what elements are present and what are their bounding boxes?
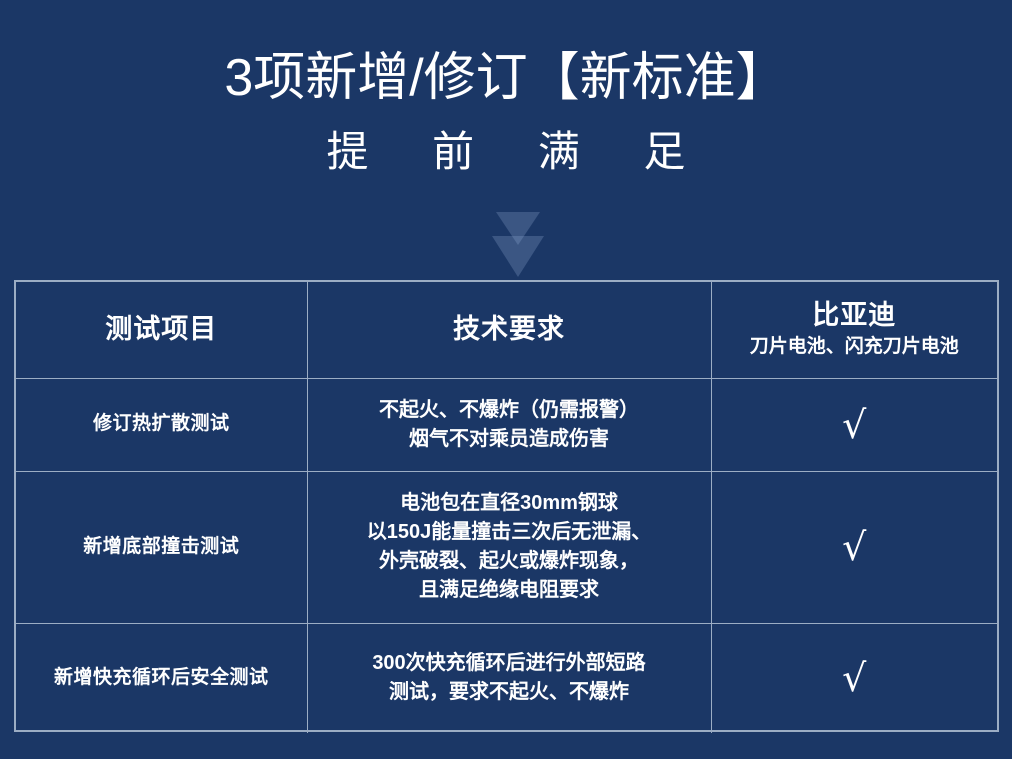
requirement-line: 外壳破裂、起火或爆炸现象， [316,547,703,576]
requirement-line: 300次快充循环后进行外部短路 [316,649,703,678]
requirement-text: 不起火、不爆炸（仍需报警） 烟气不对乘员造成伤害 [316,396,703,454]
test-item-label: 新增底部撞击测试 [24,534,299,561]
table-cell-test-item: 新增底部撞击测试 [16,471,307,623]
table-cell-requirement: 300次快充循环后进行外部短路 测试，要求不起火、不爆炸 [307,623,711,733]
requirement-line: 测试，要求不起火、不爆炸 [316,678,703,707]
table-cell-test-item: 修订热扩散测试 [16,378,307,471]
table-cell-requirement: 电池包在直径30mm钢球 以150J能量撞击三次后无泄漏、 外壳破裂、起火或爆炸… [307,471,711,623]
requirement-line: 不起火、不爆炸（仍需报警） [316,396,703,425]
check-mark-icon: √ [720,406,990,444]
table-cell-result: √ [711,471,997,623]
table-cell-test-item: 新增快充循环后安全测试 [16,623,307,733]
table-row: 修订热扩散测试 不起火、不爆炸（仍需报警） 烟气不对乘员造成伤害 √ [16,378,997,471]
down-arrow-icon [489,212,549,282]
requirement-line: 且满足绝缘电阻要求 [316,576,703,605]
check-mark-icon: √ [720,659,990,697]
down-arrow-triangle-bottom [492,236,544,277]
table-row: 新增快充循环后安全测试 300次快充循环后进行外部短路 测试，要求不起火、不爆炸… [16,623,997,733]
table-header-test-item-label: 测试项目 [24,313,299,347]
spec-table: 测试项目 技术要求 比亚迪 刀片电池、闪充刀片电池 修订热扩散测试 不起火、不爆… [16,282,997,733]
table-cell-requirement: 不起火、不爆炸（仍需报警） 烟气不对乘员造成伤害 [307,378,711,471]
table-row: 新增底部撞击测试 电池包在直径30mm钢球 以150J能量撞击三次后无泄漏、 外… [16,471,997,623]
table-header-row: 测试项目 技术要求 比亚迪 刀片电池、闪充刀片电池 [16,282,997,378]
requirement-line: 以150J能量撞击三次后无泄漏、 [316,518,703,547]
table-cell-result: √ [711,378,997,471]
requirement-text: 300次快充循环后进行外部短路 测试，要求不起火、不爆炸 [316,649,703,707]
page-subtitle: 提 前 满 足 [0,127,1012,177]
title-block: 3项新增/修订【新标准】 提 前 满 足 [0,0,1012,178]
requirement-line: 烟气不对乘员造成伤害 [316,425,703,454]
page-title: 3项新增/修订【新标准】 [0,48,1012,109]
table-header-test-item: 测试项目 [16,282,307,378]
table-header-brand-sublabel: 刀片电池、闪充刀片电池 [720,334,990,360]
check-mark-icon: √ [720,528,990,566]
table-cell-result: √ [711,623,997,733]
spec-table-container: 测试项目 技术要求 比亚迪 刀片电池、闪充刀片电池 修订热扩散测试 不起火、不爆… [14,280,999,732]
test-item-label: 修订热扩散测试 [24,411,299,438]
table-header-requirement-label: 技术要求 [316,313,703,347]
requirement-line: 电池包在直径30mm钢球 [316,489,703,518]
requirement-text: 电池包在直径30mm钢球 以150J能量撞击三次后无泄漏、 外壳破裂、起火或爆炸… [316,489,703,605]
table-header-requirement: 技术要求 [307,282,711,378]
test-item-label: 新增快充循环后安全测试 [24,665,299,692]
table-header-brand: 比亚迪 刀片电池、闪充刀片电池 [711,282,997,378]
table-header-brand-label: 比亚迪 [720,300,990,332]
